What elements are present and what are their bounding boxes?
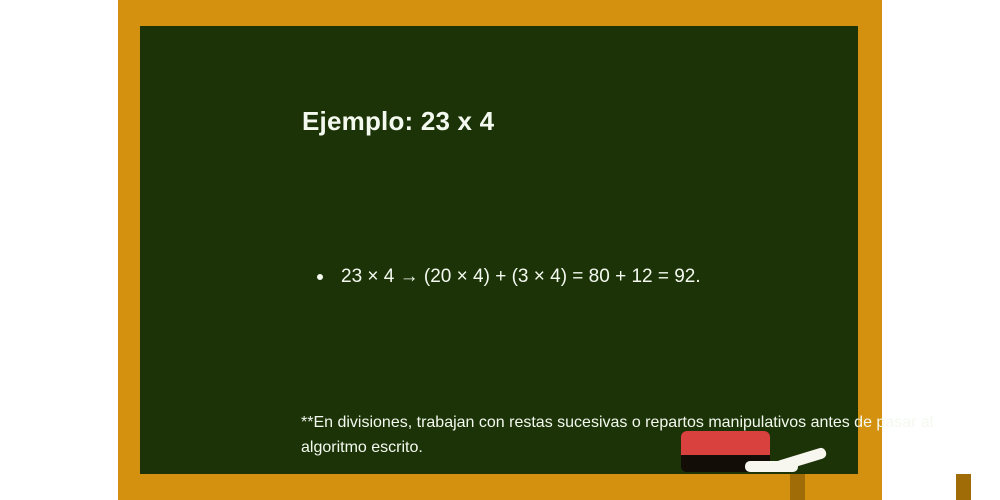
- slide-title: Ejemplo: 23 x 4: [302, 106, 494, 137]
- slide-footnote: **En divisiones, trabajan con restas suc…: [301, 410, 941, 460]
- ledge-leg-left: [790, 474, 805, 500]
- ledge-leg-right: [956, 474, 971, 500]
- eraser-top-part: [681, 431, 770, 455]
- list-item: 23 × 4 → (20 × 4) + (3 × 4) = 80 + 12 = …: [302, 264, 942, 290]
- chalkboard-surface: Ejemplo: 23 x 4 23 × 4 → (20 × 4) + (3 ×…: [140, 26, 858, 474]
- bullet-dot-icon: [317, 274, 323, 280]
- bullet-item-label: 23 × 4 → (20 × 4) + (3 × 4) = 80 + 12 = …: [341, 266, 701, 287]
- slide-canvas: Ejemplo: 23 x 4 23 × 4 → (20 × 4) + (3 ×…: [0, 0, 1000, 500]
- bullet-list: 23 × 4 → (20 × 4) + (3 × 4) = 80 + 12 = …: [302, 264, 942, 290]
